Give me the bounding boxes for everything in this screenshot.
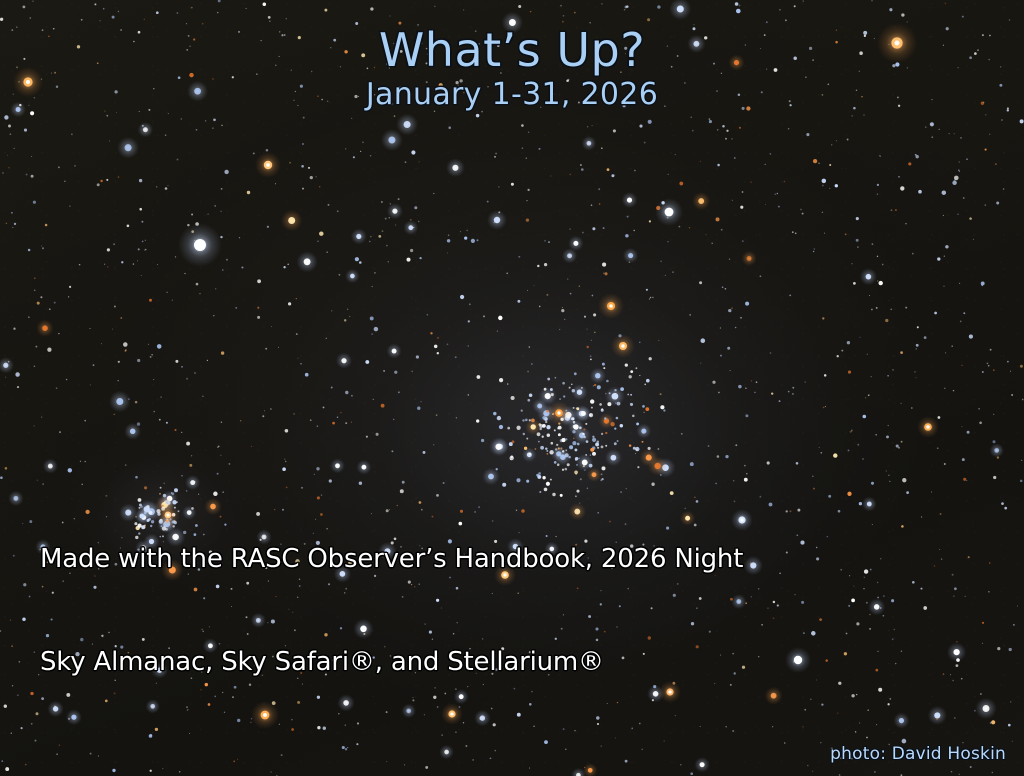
star-field [0, 0, 1024, 776]
slide-canvas: What’s Up? January 1-31, 2026 Made with … [0, 0, 1024, 776]
